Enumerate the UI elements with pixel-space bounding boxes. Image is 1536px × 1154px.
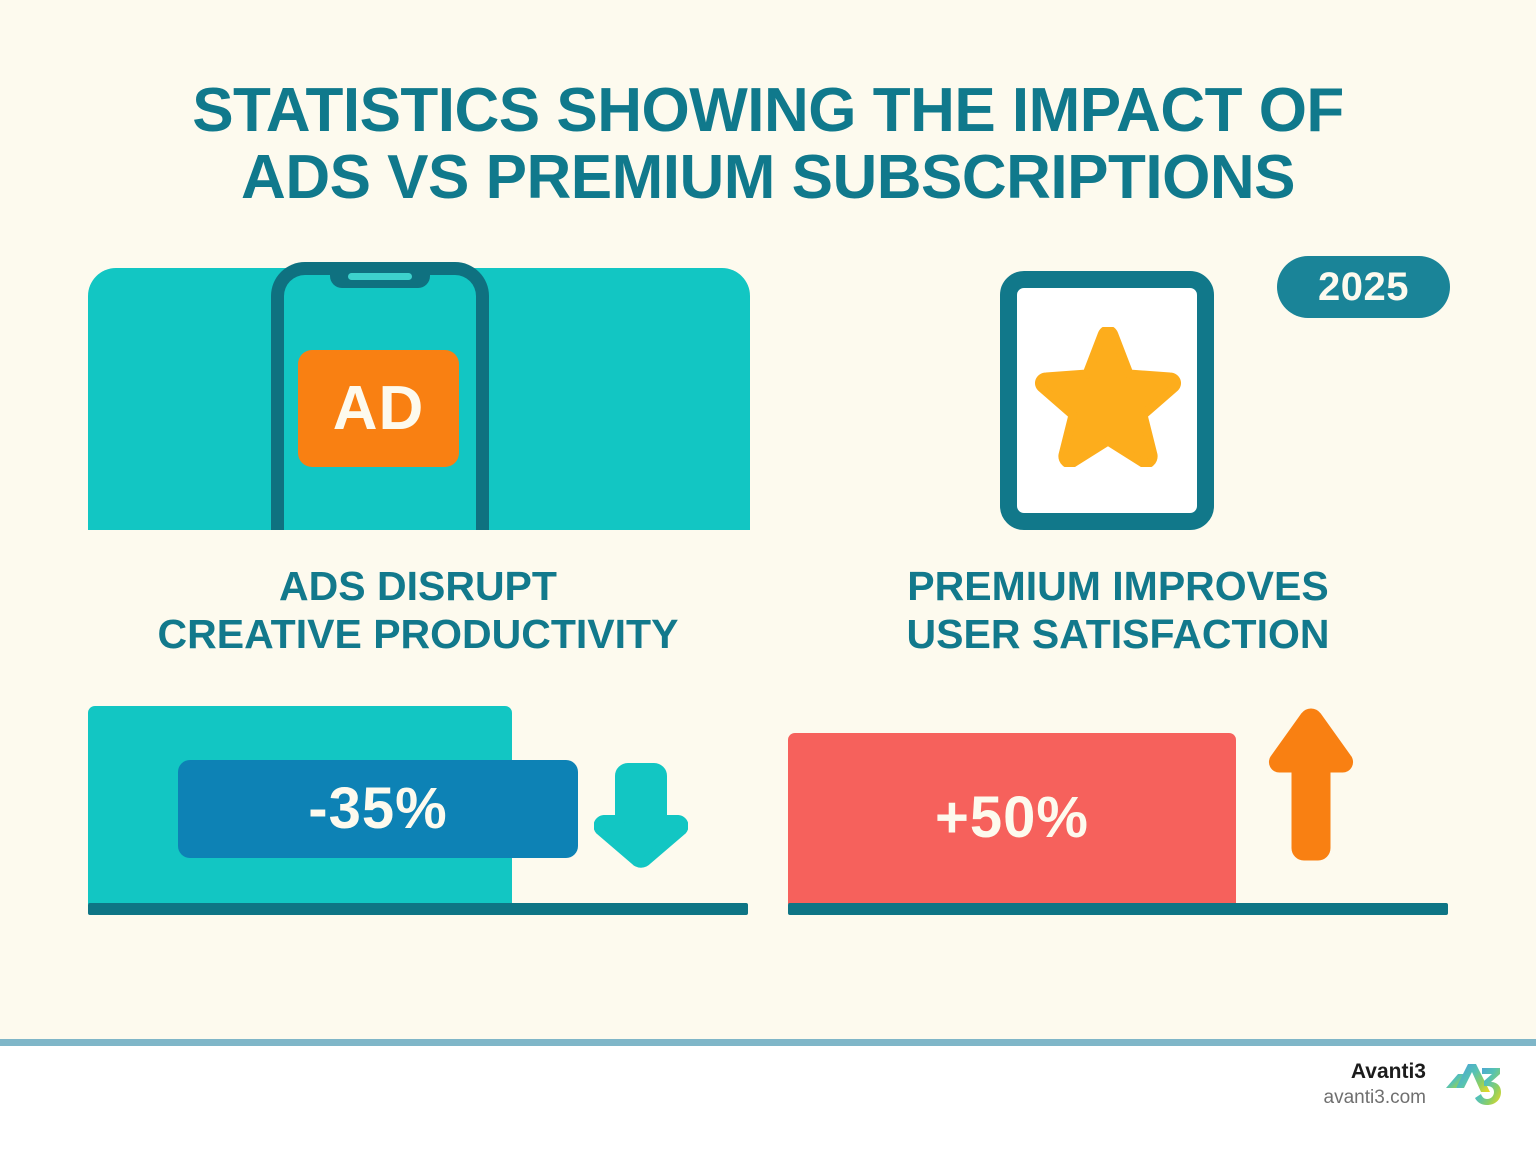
premium-caption-line-2: USER SATISFACTION — [788, 610, 1448, 658]
year-badge-label: 2025 — [1318, 267, 1409, 307]
avanti3-logo-icon — [1444, 1058, 1504, 1110]
premium-baseline — [788, 903, 1448, 915]
brand-text: Avanti3 avanti3.com — [1324, 1058, 1426, 1111]
ads-caption-line-2: CREATIVE PRODUCTIVITY — [88, 610, 748, 658]
arrow-up-icon — [1266, 703, 1356, 863]
arrow-down-icon — [594, 760, 688, 870]
ads-value-badge: -35% — [178, 760, 578, 858]
ads-caption: ADS DISRUPT CREATIVE PRODUCTIVITY — [88, 562, 748, 659]
ad-badge-label: AD — [333, 378, 425, 440]
premium-caption: PREMIUM IMPROVES USER SATISFACTION — [788, 562, 1448, 659]
premium-value-label: +50% — [935, 789, 1089, 847]
ads-value-label: -35% — [308, 780, 447, 838]
section-divider — [0, 1039, 1536, 1046]
brand-url[interactable]: avanti3.com — [1324, 1085, 1426, 1111]
footer — [0, 1046, 1536, 1154]
brand-name: Avanti3 — [1324, 1058, 1426, 1085]
page-title: STATISTICS SHOWING THE IMPACT OF ADS VS … — [0, 78, 1536, 212]
premium-caption-line-1: PREMIUM IMPROVES — [788, 562, 1448, 610]
ad-badge-icon: AD — [298, 350, 459, 467]
ads-caption-line-1: ADS DISRUPT — [88, 562, 748, 610]
page-title-line-2: ADS VS PREMIUM SUBSCRIPTIONS — [0, 145, 1536, 212]
star-icon — [1035, 327, 1181, 467]
page-title-line-1: STATISTICS SHOWING THE IMPACT OF — [0, 78, 1536, 145]
infographic-canvas: STATISTICS SHOWING THE IMPACT OF ADS VS … — [0, 0, 1536, 1154]
ads-baseline — [88, 903, 748, 915]
brand-block: Avanti3 avanti3.com — [1324, 1058, 1504, 1111]
year-badge: 2025 — [1277, 256, 1450, 318]
phone-speaker-icon — [348, 273, 412, 280]
premium-value-label-wrap: +50% — [788, 775, 1236, 861]
